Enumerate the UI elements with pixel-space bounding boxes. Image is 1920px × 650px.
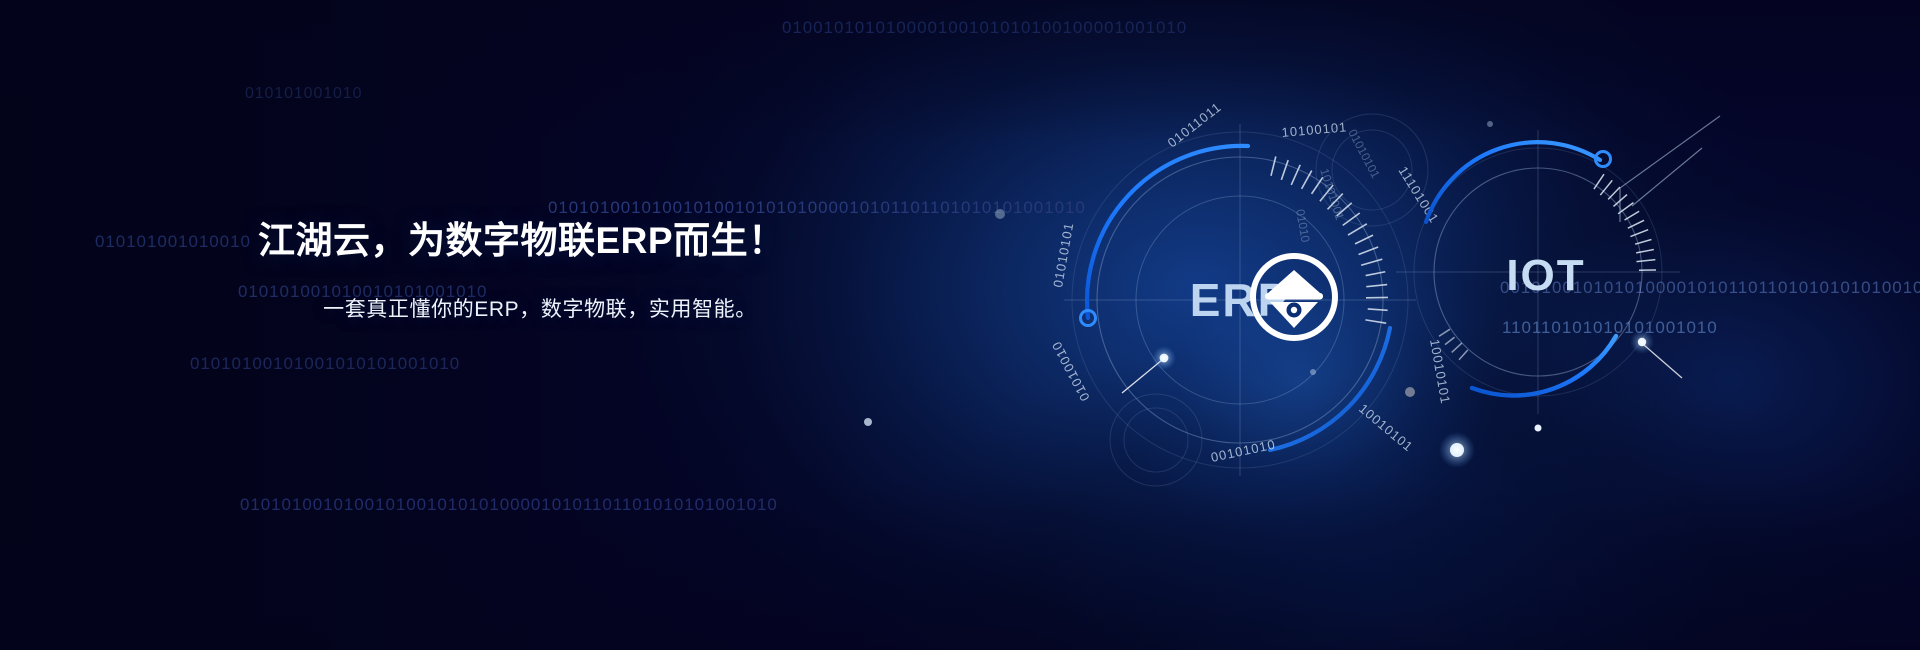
- iot-label: IOT: [1506, 251, 1585, 300]
- erp-cluster: 01011011 10100101 01010101 11101001 1001…: [1048, 99, 1453, 476]
- binary-text-left-lower-2: 01010100101001010101001010: [190, 354, 460, 374]
- svg-text:10010101: 10010101: [1356, 401, 1416, 455]
- svg-text:01010101: 01010101: [1345, 127, 1383, 181]
- binary-text-bottom-left: 0101010010100101001010101000010101101101…: [240, 495, 778, 515]
- erp-iot-graphic: 01011011 10100101 01010101 11101001 1001…: [960, 110, 1920, 550]
- binary-text-top-center: 010010101010000100101010100100001001010: [782, 18, 1187, 38]
- iot-pointer: [1630, 330, 1682, 378]
- binary-text-left-mid: 010101001010010: [95, 232, 251, 252]
- svg-text:00101010: 00101010: [1210, 437, 1278, 465]
- svg-text:10100101: 10100101: [1281, 119, 1348, 140]
- erp-accent-arc-right: [1270, 328, 1390, 450]
- iot-hud-bracket: [1620, 116, 1720, 222]
- page-subtitle: 一套真正懂你的ERP，数字物联，实用智能。: [260, 294, 820, 326]
- svg-text:01010101: 01010101: [1050, 221, 1076, 288]
- page-title: 江湖云，为数字物联ERP而生！: [258, 218, 898, 264]
- svg-text:01010: 01010: [1293, 208, 1313, 244]
- banner-stage: 0100101010100001001010101001000010010100…: [0, 0, 1920, 650]
- iot-cluster: 01010101 10101001 01010 IOT: [1293, 116, 1720, 414]
- svg-text:01010010: 01010010: [1048, 338, 1092, 403]
- erp-pointer: [1122, 346, 1176, 393]
- jianghuyun-logo-icon: [1253, 256, 1335, 338]
- erp-label: ERP: [1190, 274, 1291, 326]
- binary-text-upper-left: 010101001010: [245, 85, 362, 103]
- hero-copy: 江湖云，为数字物联ERP而生！ 一套真正懂你的ERP，数字物联，实用智能。: [258, 218, 898, 326]
